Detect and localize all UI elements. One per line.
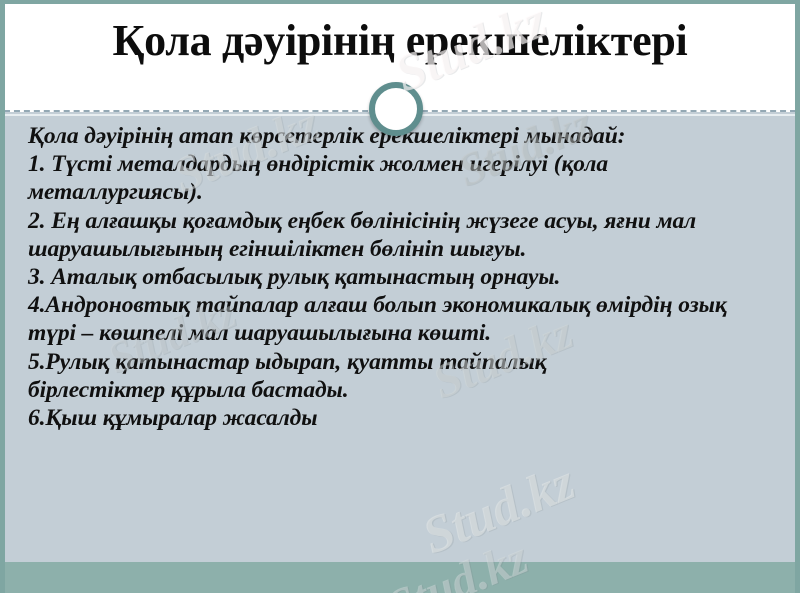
list-item: 1. Түсті металдардың өндірістік жолмен и…: [28, 150, 780, 206]
list-item: 2. Ең алғашқы қоғамдық еңбек бөлінісінің…: [28, 207, 780, 263]
list-item: 3. Аталық отбасылық рулық қатынастың орн…: [28, 263, 780, 291]
slide-canvas: Қола дәуірінің ерекшеліктері Қола дәуірі…: [0, 0, 800, 593]
list-item: 6.Қыш құмыралар жасалды: [28, 404, 780, 432]
footer-accent-bar: [0, 562, 800, 593]
right-border: [795, 0, 800, 593]
top-border: [0, 0, 800, 4]
circle-ornament-icon: [369, 82, 423, 136]
page-title: Қола дәуірінің ерекшеліктері: [0, 14, 800, 68]
slide-content: Қола дәуірінің атап көрсетерлік ерекшелі…: [28, 122, 780, 432]
list-item: 5.Рулық қатынастар ыдырап, қуатты тайпал…: [28, 348, 780, 404]
left-border: [0, 0, 5, 593]
list-item: 4.Андроновтық тайпалар алғаш болып эконо…: [28, 291, 780, 347]
